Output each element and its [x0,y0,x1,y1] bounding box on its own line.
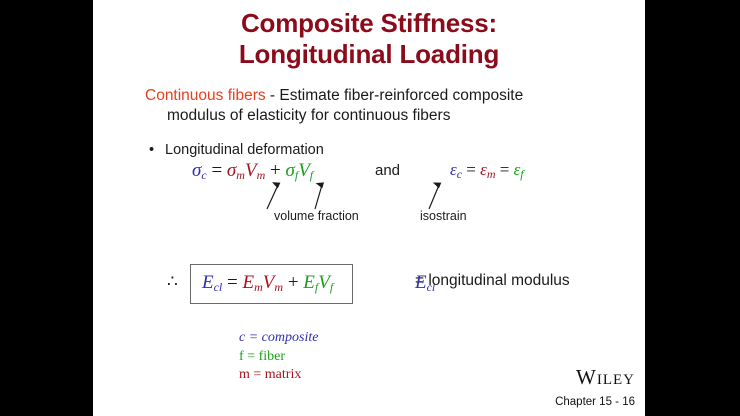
sigma-m-symbol: σ [227,160,236,181]
symbol-legend: c = composite f = fiber m = matrix [239,329,318,385]
v-f-symbol: V [298,160,310,181]
chapter-footer: Chapter 15 - 16 [555,396,635,408]
sigma-fiber-term: σfVf [285,160,313,181]
legend-definition-fiber: = fiber [244,349,285,364]
epsilon-m-symbol: ε [480,160,487,179]
legend-symbol-m: m [239,367,250,382]
epsilon-matrix: εm [480,160,495,179]
lead-line-2: modulus of elasticity for continuous fib… [167,106,625,126]
legend-definition-matrix: = matrix [250,367,301,382]
wiley-logo-w: W [576,365,597,389]
therefore-symbol: ∴ [167,272,178,292]
e-fiber-term: EfVf [303,272,333,293]
bullet-marker: • [149,140,165,160]
wiley-logo: WILEY [576,365,635,390]
equation-box-longitudinal-modulus: Ecl = EmVm + EfVf [190,264,353,304]
sigma-matrix-term: σmVm [227,160,265,181]
sigma-f-symbol: σ [285,160,294,181]
sigma-m-subscript: m [236,168,245,182]
title-line-2: Longitudinal Loading [93,39,645,70]
annotation-label-volume-fraction: volume fraction [274,209,359,223]
modulus-caption: Ecl = longitudinal modulus [415,272,570,290]
slide-viewer: Composite Stiffness: Longitudinal Loadin… [0,0,740,416]
equals-sign-strain-1: = [466,160,476,179]
page-title: Composite Stiffness: Longitudinal Loadin… [93,8,645,70]
bullet-longitudinal-deformation: •Longitudinal deformation [149,140,324,160]
e-m-symbol: E [243,272,255,293]
plus-sign-stress: + [270,160,281,181]
legend-definition-composite: = composite [245,330,318,345]
wiley-logo-rest: ILEY [597,372,635,388]
v-m-subscript-2: m [274,280,283,294]
conjunction-and: and [375,161,400,181]
v-f-symbol-2: V [318,272,330,293]
legend-item-fiber: f = fiber [239,348,318,367]
title-line-1: Composite Stiffness: [93,8,645,39]
legend-item-matrix: m = matrix [239,366,318,385]
lead-rest: - Estimate fiber-reinforced composite [266,87,524,104]
letterbox-right [645,0,740,416]
v-m-symbol: V [245,160,257,181]
annotation-label-isostrain: isostrain [420,209,467,223]
equation-longitudinal-modulus: Ecl = EmVm + EfVf [202,272,333,295]
epsilon-fiber: εf [514,160,524,179]
e-cl-caption-subscript: cl [427,280,436,294]
e-cl-caption-symbol: Ecl [415,272,435,295]
epsilon-composite: εc [450,160,462,179]
e-m-subscript: m [254,280,263,294]
v-f-subscript-2: f [330,280,333,294]
equals-sign-modulus: = [227,272,238,293]
v-m-symbol-2: V [263,272,275,293]
letterbox-left [0,0,93,416]
epsilon-c-symbol: ε [450,160,457,179]
legend-item-composite: c = composite [239,329,318,348]
equals-sign-stress: = [211,160,222,181]
lead-paragraph: Continuous fibers - Estimate fiber-reinf… [145,86,625,126]
bullet-label: Longitudinal deformation [165,142,324,158]
epsilon-m-subscript: m [487,167,496,181]
v-m-subscript: m [257,168,266,182]
epsilon-c-subscript: c [457,167,462,181]
slide-canvas: Composite Stiffness: Longitudinal Loadin… [93,0,645,416]
equation-isostrain: εc = εm = εf [450,160,524,182]
modulus-caption-text: = longitudinal modulus [415,272,570,289]
e-cl-symbol: E [202,272,214,293]
equation-stress-rule-of-mixtures: σc = σmVm + σfVf [192,160,313,183]
e-cl-term: Ecl [202,272,222,293]
plus-sign-modulus: + [288,272,299,293]
sigma-composite: σc [192,160,207,181]
e-f-symbol: E [303,272,315,293]
e-matrix-term: EmVm [243,272,284,293]
lead-highlight: Continuous fibers [145,87,266,104]
sigma-c-subscript: c [201,168,206,182]
annotation-arrow-isostrain [423,182,483,212]
v-f-subscript: f [310,168,313,182]
epsilon-f-subscript: f [520,167,523,181]
equals-sign-strain-2: = [500,160,510,179]
e-cl-caption-letter: E [415,272,427,293]
sigma-c-symbol: σ [192,160,201,181]
e-cl-subscript: cl [214,280,223,294]
